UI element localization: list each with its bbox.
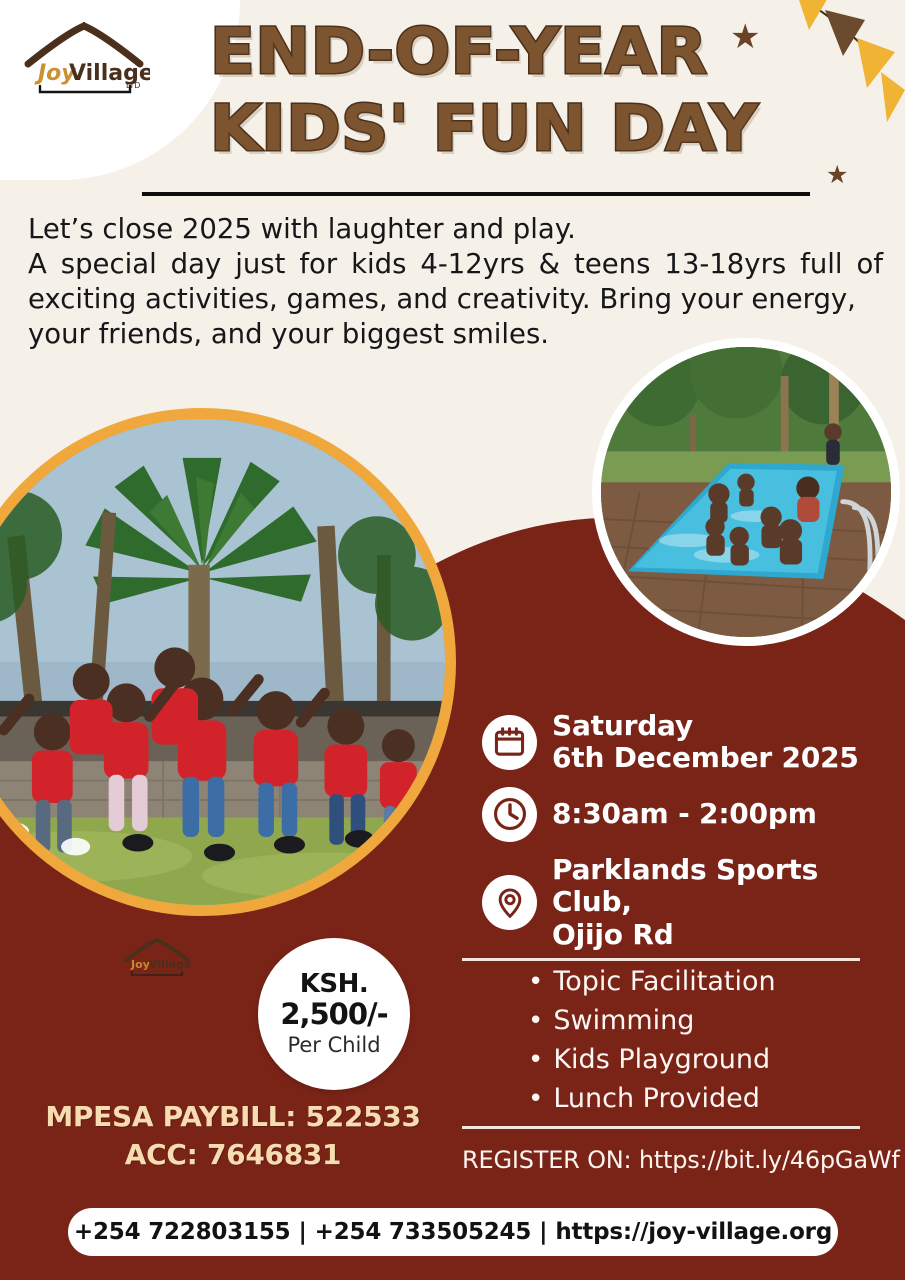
title-line-2: KIDS' FUN DAY — [210, 97, 855, 160]
detail-text-time: 8:30am - 2:00pm — [552, 798, 817, 830]
activity-label: Topic Facilitation — [553, 968, 775, 995]
footer-phone-2[interactable]: +254 733505245 — [315, 1219, 532, 1245]
register-link[interactable]: REGISTER ON: https://bit.ly/46pGaWf — [462, 1146, 900, 1174]
detail-location-line-2: Ojijo Rd — [552, 919, 902, 951]
payment-info: MPESA PAYBILL: 522533 ACC: 7646831 — [28, 1098, 438, 1174]
detail-location-line-1: Parklands Sports Club, — [552, 854, 902, 919]
bullet-icon: • — [528, 1047, 543, 1073]
activities-list: • Topic Facilitation • Swimming • Kids P… — [528, 968, 888, 1124]
footer-separator-1: | — [290, 1219, 314, 1245]
detail-text-date: Saturday 6th December 2025 — [552, 710, 859, 775]
poster-root: Joy Village LTD ★ ★ END-OF-YEAR KIDS' FU… — [0, 0, 905, 1280]
title-line-1: END-OF-YEAR — [210, 20, 855, 83]
calendar-icon — [482, 715, 537, 770]
footer-phone-1[interactable]: +254 722803155 — [74, 1219, 291, 1245]
svg-text:Joy: Joy — [130, 958, 150, 971]
location-pin-icon — [482, 875, 537, 930]
bullet-icon: • — [528, 1008, 543, 1034]
bullet-icon: • — [528, 1086, 543, 1112]
price-amount: 2,500/- — [280, 999, 387, 1031]
intro-line-2: A special day just for kids 4-12yrs & te… — [28, 247, 883, 317]
svg-text:Village: Village — [149, 958, 191, 971]
intro-paragraph: Let’s close 2025 with laughter and play.… — [28, 212, 883, 352]
intro-line-1: Let’s close 2025 with laughter and play. — [28, 212, 883, 247]
price-unit: Per Child — [287, 1034, 380, 1057]
pool-photo-image — [601, 347, 891, 637]
event-details: Saturday 6th December 2025 8:30am - 2:00… — [482, 710, 902, 963]
activity-label: Kids Playground — [553, 1046, 770, 1073]
activity-label: Swimming — [553, 1007, 694, 1034]
detail-date-line-1: Saturday — [552, 710, 859, 742]
detail-row-time: 8:30am - 2:00pm — [482, 787, 902, 842]
mpesa-account: ACC: 7646831 — [28, 1136, 438, 1174]
title-divider — [142, 192, 810, 196]
activities-divider-bottom — [462, 1126, 860, 1129]
detail-time-line-1: 8:30am - 2:00pm — [552, 798, 817, 830]
bullet-icon: • — [528, 969, 543, 995]
detail-row-date: Saturday 6th December 2025 — [482, 710, 902, 775]
svg-text:LTD: LTD — [126, 81, 140, 90]
page-title: END-OF-YEAR KIDS' FUN DAY — [210, 20, 830, 160]
detail-text-location: Parklands Sports Club, Ojijo Rd — [552, 854, 902, 951]
kids-photo-image — [0, 419, 445, 905]
footer-website[interactable]: https://joy-village.org — [555, 1219, 832, 1245]
price-badge: KSH. 2,500/- Per Child — [258, 938, 410, 1090]
clock-icon — [482, 787, 537, 842]
list-item: • Lunch Provided — [528, 1085, 888, 1112]
detail-row-location: Parklands Sports Club, Ojijo Rd — [482, 854, 902, 951]
contact-footer-bar: +254 722803155 | +254 733505245 | https:… — [68, 1208, 838, 1256]
list-item: • Topic Facilitation — [528, 968, 888, 995]
photo-watermark-logo: Joy Village — [118, 938, 196, 978]
mpesa-paybill: MPESA PAYBILL: 522533 — [28, 1098, 438, 1136]
price-currency-label: KSH. — [300, 971, 369, 997]
detail-date-line-2: 6th December 2025 — [552, 742, 859, 774]
kids-photo — [0, 408, 456, 916]
activity-label: Lunch Provided — [553, 1085, 760, 1112]
joyvillage-logo: Joy Village LTD — [18, 22, 150, 100]
list-item: • Swimming — [528, 1007, 888, 1034]
pool-photo — [592, 338, 900, 646]
list-item: • Kids Playground — [528, 1046, 888, 1073]
star-decoration-icon: ★ — [826, 163, 848, 188]
footer-separator-2: | — [531, 1219, 555, 1245]
activities-divider-top — [462, 958, 860, 961]
